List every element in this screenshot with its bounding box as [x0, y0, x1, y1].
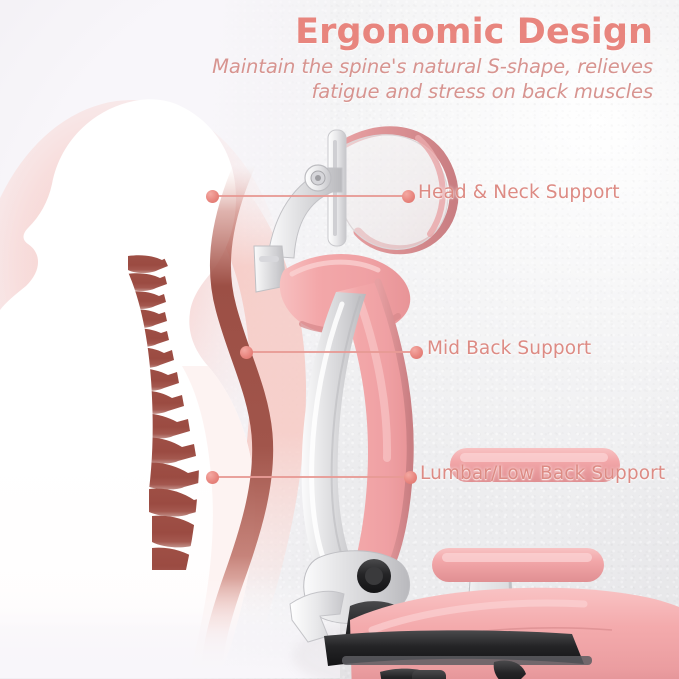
subtitle-line-1: Maintain the spine's natural S-shape, re… [183, 55, 653, 80]
subtitle: Maintain the spine's natural S-shape, re… [183, 55, 653, 104]
header: Ergonomic Design Maintain the spine's na… [183, 14, 653, 104]
callout-anchor-dot-chair [404, 471, 417, 484]
callout-anchor-dot-spine [206, 190, 219, 203]
page-title: Ergonomic Design [183, 14, 653, 51]
callout-label: Head & Neck Support [418, 182, 620, 203]
callout-label: Lumbar/Low Back Support [420, 463, 665, 484]
callout-anchor-dot-chair [402, 190, 415, 203]
callout-anchor-dot-spine [206, 471, 219, 484]
callout-label: Mid Back Support [427, 338, 591, 359]
callout-leader-line [212, 476, 410, 478]
armrest-lower-pad [432, 548, 604, 582]
callout-leader-line [246, 351, 416, 353]
callout-anchor-dot-chair [410, 346, 423, 359]
subtitle-line-2: fatigue and stress on back muscles [183, 80, 653, 105]
gas-cylinder [412, 670, 446, 679]
product-feature-image: Ergonomic Design Maintain the spine's na… [0, 0, 679, 679]
callout-anchor-dot-spine [240, 346, 253, 359]
callout-leader-line [212, 195, 408, 197]
